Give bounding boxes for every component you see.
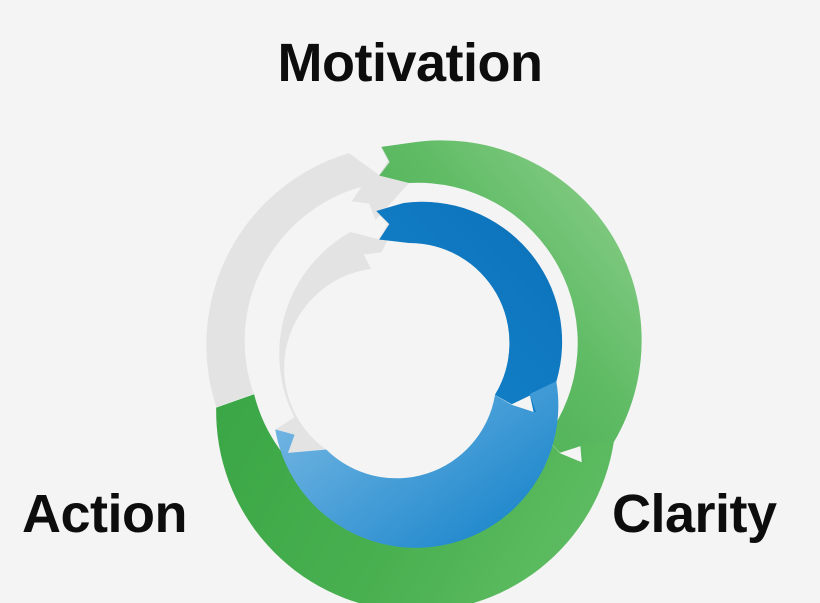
diagram-canvas: Motivation Action Clarity	[0, 0, 820, 603]
label-motivation: Motivation	[0, 36, 820, 90]
label-action: Action	[22, 487, 187, 541]
label-clarity: Clarity	[612, 487, 777, 541]
inner-blue-segment-1	[376, 202, 562, 415]
inner-ring	[275, 202, 562, 548]
